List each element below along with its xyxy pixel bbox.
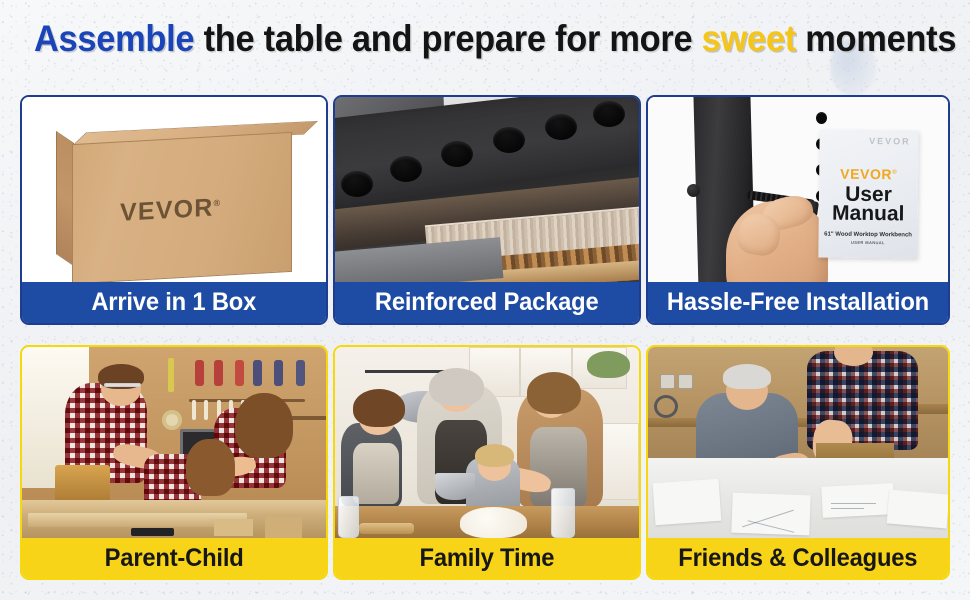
card-caption-label: Reinforced Package (375, 288, 599, 317)
pliers-tool (195, 360, 204, 386)
manual-title: User Manual (832, 185, 905, 224)
leg-hole (341, 171, 373, 197)
screwdriver-tool (204, 400, 208, 420)
pliers-tool (214, 360, 223, 386)
user-manual-booklet: VEVOR VEVOR® User Manual 61" Wood Workto… (818, 130, 918, 259)
card-caption-label: Friends & Colleagues (678, 544, 917, 573)
card-caption-friends-colleagues: Friends & Colleagues (648, 538, 948, 578)
leg-hole (545, 114, 577, 140)
manual-subtitle: 61" Wood Worktop Workbench (824, 232, 912, 239)
feature-card-friends-colleagues[interactable]: Friends & Colleagues (646, 345, 950, 580)
mixing-bowl (435, 473, 475, 500)
pliers-tool (296, 360, 305, 386)
reinforced-package-illustration (335, 97, 639, 282)
feature-card-arrive-in-1-box[interactable]: VEVOR® Arrive in 1 Box (20, 95, 328, 325)
feature-card-parent-child[interactable]: Parent-Child (20, 345, 328, 580)
blueprint-sheet (653, 478, 722, 525)
blueprint-drawn-line (831, 503, 876, 504)
grandmother-hair (429, 368, 484, 406)
leg-hole (493, 127, 525, 153)
card-caption-hassle-free-installation: Hassle-Free Installation (648, 282, 948, 323)
manual-title-line-2: Manual (832, 204, 905, 224)
rolling-pin (359, 523, 414, 534)
wood-offcut (265, 517, 301, 538)
milk-bottle (551, 488, 575, 538)
pliers-tool (274, 360, 283, 386)
dough-and-flour (460, 507, 527, 538)
manual-brand-registered-mark: ® (892, 170, 897, 176)
leg-hole (390, 156, 422, 182)
mother-hair (527, 372, 582, 414)
blueprint-review-scene (648, 347, 948, 538)
cardboard-box-illustration: VEVOR® (22, 97, 326, 282)
girl-apron (353, 443, 399, 504)
child-hair (186, 439, 235, 496)
card-caption-label: Arrive in 1 Box (92, 288, 257, 317)
herb-plant (587, 351, 630, 378)
hand-tool-on-bench (131, 528, 174, 536)
box-logo-registered-mark: ® (214, 198, 222, 208)
wall-outlet (678, 374, 693, 389)
tape-roll (162, 410, 182, 430)
card-image-reinforced-package (335, 97, 639, 282)
feature-card-family-time[interactable]: Family Time (333, 345, 641, 580)
screwdriver-tool (192, 400, 196, 420)
workshop-scene (22, 347, 326, 538)
wall-outlet (660, 374, 675, 389)
card-caption-family-time: Family Time (335, 538, 639, 578)
box-logo-text: VEVOR (120, 194, 214, 227)
wood-offcut (214, 519, 254, 536)
card-image-packaged-box: VEVOR® (22, 97, 326, 282)
kitchen-scene (335, 347, 639, 538)
post-knob (687, 184, 700, 197)
card-caption-label: Family Time (420, 544, 555, 573)
card-caption-parent-child: Parent-Child (22, 538, 326, 578)
pliers-tool (235, 360, 244, 386)
card-image-family-kitchen (335, 347, 639, 538)
card-image-family-workshop (22, 347, 326, 538)
seated-man-hair (723, 364, 771, 389)
blueprint-sheet (821, 483, 895, 517)
card-image-installation: VEVOR VEVOR® User Manual 61" Wood Workto… (648, 97, 948, 282)
manual-ghost-text: VEVOR (869, 137, 911, 147)
mother-hair (235, 393, 293, 458)
manual-brand-text: VEVOR (840, 166, 892, 183)
manual-footer-label: USER MANUAL (851, 240, 885, 245)
card-caption-label: Parent-Child (105, 544, 244, 573)
milk-bottle (338, 496, 359, 538)
father-safety-glasses (104, 383, 140, 387)
toddler-hair (475, 444, 515, 467)
blueprint-sheet (731, 493, 810, 536)
card-caption-label: Hassle-Free Installation (667, 288, 929, 317)
post-hole (816, 112, 827, 124)
installation-illustration: VEVOR VEVOR® User Manual 61" Wood Workto… (648, 97, 948, 282)
feature-card-grid: VEVOR® Arrive in 1 Box (0, 0, 970, 600)
girl-hair (353, 389, 405, 427)
hammer-tool (168, 358, 174, 392)
card-caption-reinforced-package: Reinforced Package (335, 282, 639, 323)
blueprint-sheet (887, 490, 948, 529)
cardboard-box: VEVOR® (56, 124, 292, 278)
manual-brand-logo: VEVOR® (840, 166, 897, 183)
father-tool-belt (55, 465, 110, 503)
blueprint-drawn-line (831, 508, 864, 509)
card-image-colleagues-blueprint (648, 347, 948, 538)
card-caption-arrive-in-1-box: Arrive in 1 Box (22, 282, 326, 323)
box-vevor-logo: VEVOR® (120, 193, 221, 228)
feature-card-hassle-free-installation[interactable]: VEVOR VEVOR® User Manual 61" Wood Workto… (646, 95, 950, 325)
pliers-tool (253, 360, 262, 386)
leg-hole (593, 101, 625, 127)
feature-card-reinforced-package[interactable]: Reinforced Package (333, 95, 641, 325)
hanging-ring-tool (654, 395, 678, 418)
